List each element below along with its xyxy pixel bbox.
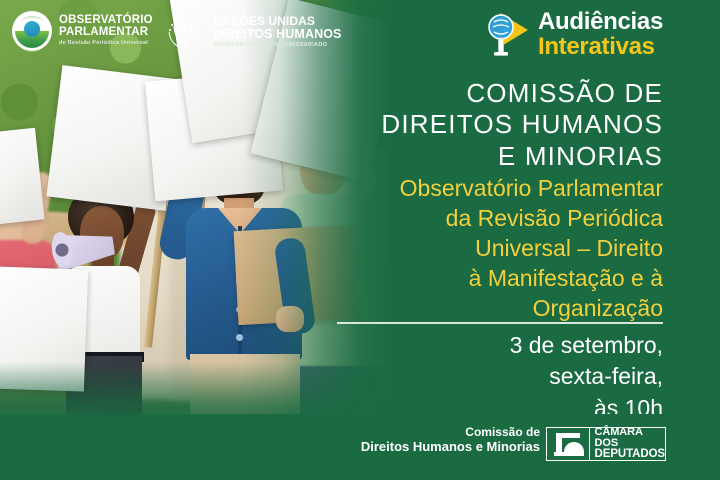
observatorio-circle-logo (12, 11, 52, 51)
play-microphone-icon (486, 8, 532, 60)
date-line-2: sexta-feira, (333, 361, 663, 392)
content-panel: Audiências Interativas COMISSÃO DE DIREI… (330, 0, 720, 414)
event-date: 3 de setembro, sexta-feira, às 10h (333, 330, 663, 424)
camara-line-1: CÂMARA DOS (595, 427, 665, 450)
audiencias-interativas-logo: Audiências Interativas (486, 8, 663, 60)
nacoes-unidas-text: NAÇÕES UNIDAS DIREITOS HUMANOS ESCRITÓRI… (213, 15, 341, 48)
title-line-3: E MINORIAS (333, 141, 663, 172)
page-title: COMISSÃO DE DIREITOS HUMANOS E MINORIAS (333, 78, 663, 172)
subtitle-line-3: Universal – Direito (323, 234, 663, 264)
subtitle-line-2: da Revisão Periódica (323, 204, 663, 234)
section-divider (337, 322, 663, 324)
observatorio-parlamentar-logo: OBSERVATÓRIO PARLAMENTAR de Revisão Peri… (12, 11, 153, 51)
camara-dos-deputados-logo: CÂMARA DOS DEPUTADOS (546, 427, 666, 461)
comissao-label: Comissão de Direitos Humanos e Minorias (350, 425, 540, 455)
observatorio-line-2: PARLAMENTAR (59, 27, 153, 39)
event-poster: Audiências Interativas COMISSÃO DE DIREI… (0, 0, 720, 480)
observatorio-arc (21, 16, 43, 28)
nacoes-unidas-logo: NAÇÕES UNIDAS DIREITOS HUMANOS ESCRITÓRI… (165, 12, 341, 52)
subtitle-line-4: à Manifestação e à (323, 264, 663, 294)
un-line-2: DIREITOS HUMANOS (213, 28, 341, 41)
brand-line-2: Interativas (538, 35, 663, 59)
date-line-1: 3 de setembro, (333, 330, 663, 361)
un-laurel-icon (165, 12, 205, 52)
comissao-line-2: Direitos Humanos e Minorias (350, 439, 540, 455)
un-line-3: ESCRITÓRIO DO ALTO COMISSARIADO (213, 43, 341, 49)
title-line-2: DIREITOS HUMANOS (333, 109, 663, 140)
camara-line-2: DEPUTADOS (595, 449, 665, 461)
brand-line-1: Audiências (538, 10, 663, 34)
camara-building-icon (547, 428, 590, 460)
camara-text: CÂMARA DOS DEPUTADOS (590, 428, 665, 460)
page-subtitle: Observatório Parlamentar da Revisão Peri… (323, 174, 663, 323)
comissao-line-1: Comissão de (350, 425, 540, 439)
observatorio-text: OBSERVATÓRIO PARLAMENTAR de Revisão Peri… (59, 15, 153, 46)
subtitle-line-5: Organização (323, 294, 663, 324)
title-line-1: COMISSÃO DE (333, 78, 663, 109)
observatorio-line-3: de Revisão Periódica Universal (59, 41, 153, 47)
subtitle-line-1: Observatório Parlamentar (323, 174, 663, 204)
brand-text: Audiências Interativas (538, 10, 663, 59)
